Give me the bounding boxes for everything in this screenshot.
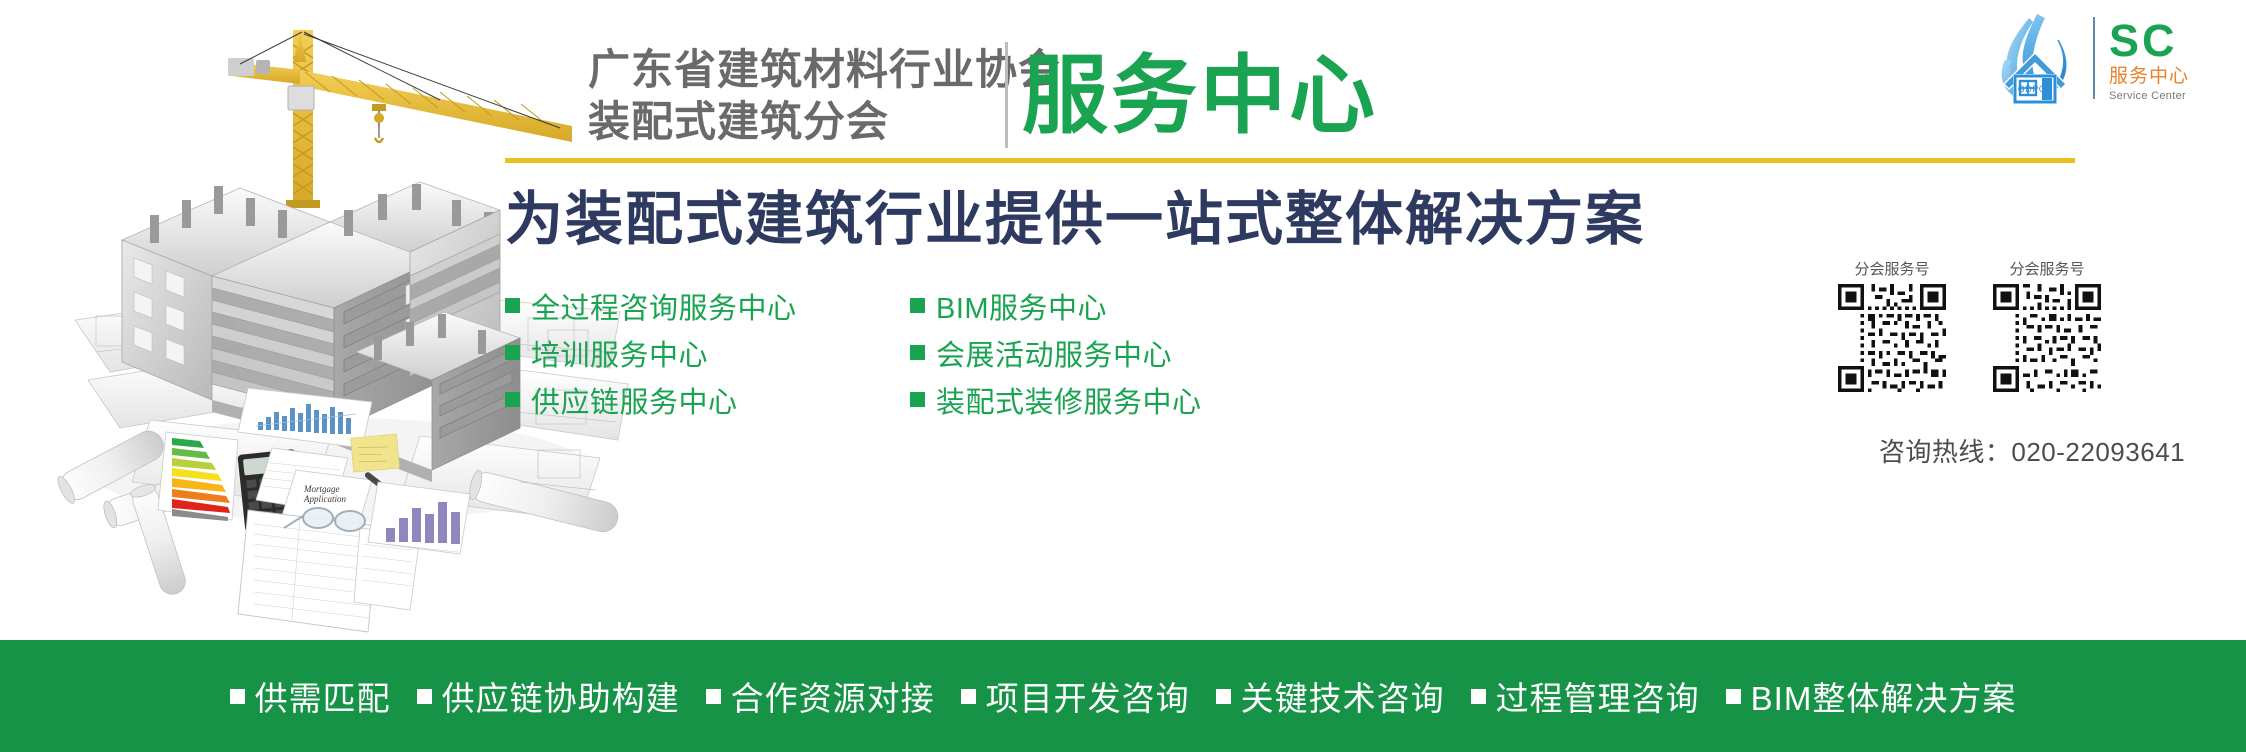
service-list-right: BIM服务中心 会展活动服务中心 装配式装修服务中心 bbox=[910, 282, 1202, 423]
square-bullet-icon bbox=[505, 392, 520, 407]
logo-english-name: Service Center bbox=[2109, 89, 2189, 103]
service-label: 培训服务中心 bbox=[531, 332, 708, 374]
list-item[interactable]: 培训服务中心 bbox=[505, 329, 797, 376]
bottom-service-bar: 供需匹配 供应链协助构建 合作资源对接 项目开发咨询 关键技术咨询 过程管理咨询 bbox=[0, 640, 2246, 752]
bottom-bar-items: 供需匹配 供应链协助构建 合作资源对接 项目开发咨询 关键技术咨询 过程管理咨询 bbox=[230, 672, 2017, 720]
association-name-line2: 装配式建筑分会 bbox=[588, 96, 1008, 148]
square-bullet-icon bbox=[505, 345, 520, 360]
gold-divider-rule bbox=[505, 158, 2075, 163]
bar-label: BIM整体解决方案 bbox=[1751, 672, 2017, 720]
square-bullet-icon bbox=[961, 689, 976, 704]
bar-label: 供应链协助构建 bbox=[442, 672, 680, 720]
square-bullet-icon bbox=[910, 298, 925, 313]
banner-subtitle: 为装配式建筑行业提供一站式整体解决方案 bbox=[505, 185, 1645, 255]
qr-code-block[interactable]: 分会服务号 bbox=[1832, 258, 1952, 392]
hotline-text: 咨询热线：020-22093641 bbox=[1822, 432, 2242, 469]
bar-label: 项目开发咨询 bbox=[986, 672, 1190, 720]
bar-item[interactable]: 关键技术咨询 bbox=[1216, 672, 1445, 720]
list-item[interactable]: 会展活动服务中心 bbox=[910, 329, 1202, 376]
logo-divider bbox=[2093, 17, 2095, 99]
list-item[interactable]: 供应链服务中心 bbox=[505, 376, 797, 423]
bar-item[interactable]: 项目开发咨询 bbox=[961, 672, 1190, 720]
square-bullet-icon bbox=[910, 392, 925, 407]
service-center-lists: 全过程咨询服务中心 培训服务中心 供应链服务中心 BIM服务中心 会展活动服务中… bbox=[505, 282, 1305, 422]
service-label: BIM服务中心 bbox=[936, 285, 1107, 327]
square-bullet-icon bbox=[505, 298, 520, 313]
list-item[interactable]: 装配式装修服务中心 bbox=[910, 376, 1202, 423]
logo-chinese-name: 服务中心 bbox=[2109, 65, 2189, 89]
svg-text:Mortgage: Mortgage bbox=[303, 484, 340, 494]
bar-item[interactable]: 供需匹配 bbox=[230, 672, 391, 720]
qr-code-block[interactable]: 分会服务号 bbox=[1987, 258, 2107, 392]
service-label: 装配式装修服务中心 bbox=[936, 379, 1202, 421]
qr-code-icon[interactable] bbox=[1838, 284, 1946, 392]
qr-code-icon[interactable] bbox=[1993, 284, 2101, 392]
square-bullet-icon bbox=[1471, 689, 1486, 704]
qr-caption: 分会服务号 bbox=[1987, 258, 2107, 279]
logo-mark-caption: GDPCB bbox=[1989, 84, 2081, 94]
square-bullet-icon bbox=[1726, 689, 1741, 704]
bar-item[interactable]: BIM整体解决方案 bbox=[1726, 672, 2017, 720]
bar-label: 合作资源对接 bbox=[731, 672, 935, 720]
service-center-heading: 服务中心 bbox=[1022, 48, 1378, 144]
bar-item[interactable]: 过程管理咨询 bbox=[1471, 672, 1700, 720]
square-bullet-icon bbox=[1216, 689, 1231, 704]
association-name-line1: 广东省建筑材料行业协会 bbox=[588, 44, 1008, 96]
bar-label: 关键技术咨询 bbox=[1241, 672, 1445, 720]
association-name-block: 广东省建筑材料行业协会 装配式建筑分会 bbox=[588, 44, 1008, 154]
banner-root: Mortgage Application bbox=[0, 0, 2246, 752]
title-divider bbox=[1005, 42, 1008, 148]
qr-caption: 分会服务号 bbox=[1832, 258, 1952, 279]
bar-item[interactable]: 供应链协助构建 bbox=[417, 672, 680, 720]
brand-logo[interactable]: GDPCB SC 服务中心 Service Center bbox=[1983, 12, 2241, 104]
bar-label: 过程管理咨询 bbox=[1496, 672, 1700, 720]
square-bullet-icon bbox=[910, 345, 925, 360]
bar-item[interactable]: 合作资源对接 bbox=[706, 672, 935, 720]
service-list-left: 全过程咨询服务中心 培训服务中心 供应链服务中心 bbox=[505, 282, 797, 423]
bar-label: 供需匹配 bbox=[255, 672, 391, 720]
service-label: 会展活动服务中心 bbox=[936, 332, 1172, 374]
qr-code-group: 分会服务号 bbox=[1822, 258, 2242, 418]
list-item[interactable]: 全过程咨询服务中心 bbox=[505, 282, 797, 329]
svg-text:Application: Application bbox=[303, 494, 346, 504]
logo-abbreviation: SC bbox=[2109, 18, 2189, 63]
logo-text-block: SC 服务中心 Service Center bbox=[2109, 18, 2189, 103]
list-item[interactable]: BIM服务中心 bbox=[910, 282, 1202, 329]
square-bullet-icon bbox=[230, 689, 245, 704]
square-bullet-icon bbox=[417, 689, 432, 704]
square-bullet-icon bbox=[706, 689, 721, 704]
service-label: 供应链服务中心 bbox=[531, 379, 738, 421]
service-label: 全过程咨询服务中心 bbox=[531, 285, 797, 327]
